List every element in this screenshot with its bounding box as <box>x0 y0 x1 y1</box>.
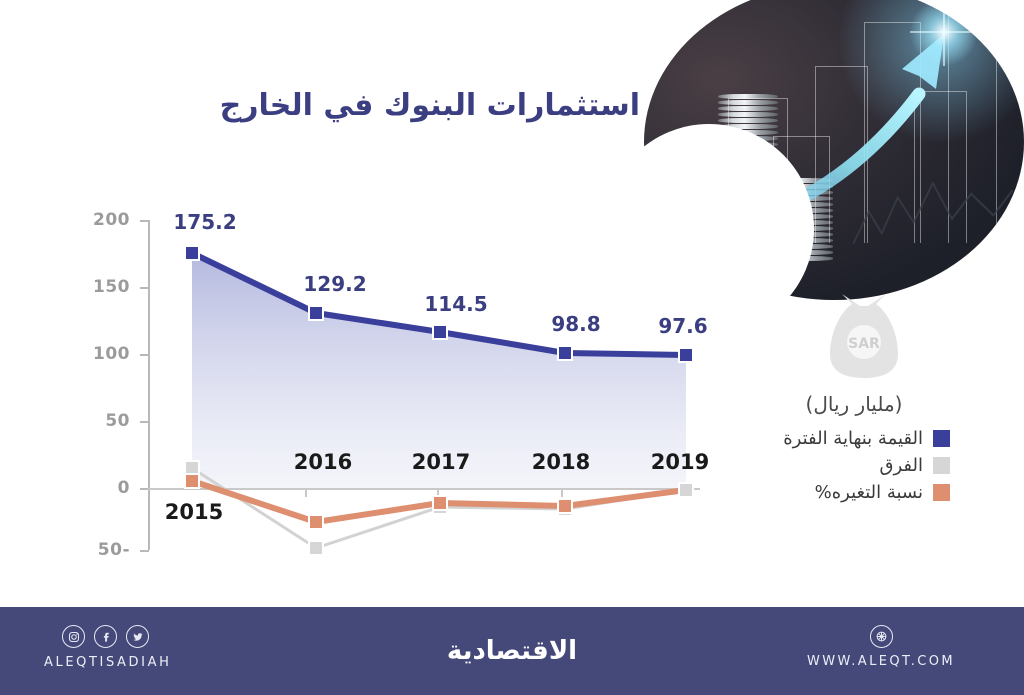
data-point-difference <box>678 482 694 498</box>
social-links <box>62 625 149 648</box>
x-axis-label-2015: 2015 <box>165 500 223 524</box>
website-block[interactable]: WWW.ALEQT.COM <box>786 625 976 669</box>
data-point-value <box>184 245 200 261</box>
chart-plot <box>0 190 760 590</box>
footer-bar: ALEQTISADIAH الاقتصادية WWW.ALEQT.COM <box>0 607 1024 695</box>
x-axis-label-2016: 2016 <box>294 450 352 474</box>
data-point-value <box>678 347 694 363</box>
legend-item-difference[interactable]: الفرق <box>700 455 1008 476</box>
x-axis-label-2017: 2017 <box>412 450 470 474</box>
data-point-difference <box>308 540 324 556</box>
website-url: WWW.ALEQT.COM <box>786 654 976 669</box>
legend-label: نسبة التغيره% <box>815 482 923 503</box>
data-point-change-percent <box>184 473 200 489</box>
facebook-icon[interactable] <box>94 625 117 648</box>
stock-line-graphic <box>853 158 1013 265</box>
chart-container: 200 150 100 50 0 50- <box>0 190 760 590</box>
money-bag-sar-icon: SAR <box>812 292 916 384</box>
x-axis-label-2018: 2018 <box>532 450 590 474</box>
chart-legend: القيمة بنهاية الفترة الفرق نسبة التغيره% <box>700 428 1008 509</box>
data-point-value <box>432 324 448 340</box>
value-label: 129.2 <box>303 272 366 296</box>
data-point-change-percent <box>557 498 573 514</box>
data-point-change-percent <box>308 514 324 530</box>
unit-note: (مليار ريال) <box>700 392 1008 416</box>
bag-currency-text: SAR <box>848 336 880 352</box>
data-point-value <box>557 345 573 361</box>
twitter-icon[interactable] <box>126 625 149 648</box>
legend-label: القيمة بنهاية الفترة <box>783 428 923 449</box>
footer-brand-latin: ALEQTISADIAH <box>44 655 171 670</box>
legend-label: الفرق <box>880 455 924 476</box>
globe-icon <box>870 625 893 648</box>
page-title: استثمارات البنوك في الخارج <box>220 88 640 123</box>
infographic-page: استثمارات البنوك في الخارج 200 150 100 5… <box>0 0 1024 695</box>
legend-item-change-percent[interactable]: نسبة التغيره% <box>700 482 1008 503</box>
legend-swatch-salmon <box>933 484 950 501</box>
legend-swatch-blue <box>933 430 950 447</box>
legend-item-end-of-period-value[interactable]: القيمة بنهاية الفترة <box>700 428 1008 449</box>
value-label: 175.2 <box>173 210 236 234</box>
instagram-icon[interactable] <box>62 625 85 648</box>
data-point-value <box>308 305 324 321</box>
value-label: 114.5 <box>424 292 487 316</box>
data-point-change-percent <box>432 495 448 511</box>
value-label: 97.6 <box>658 314 707 338</box>
legend-swatch-gray <box>933 457 950 474</box>
value-label: 98.8 <box>551 312 600 336</box>
